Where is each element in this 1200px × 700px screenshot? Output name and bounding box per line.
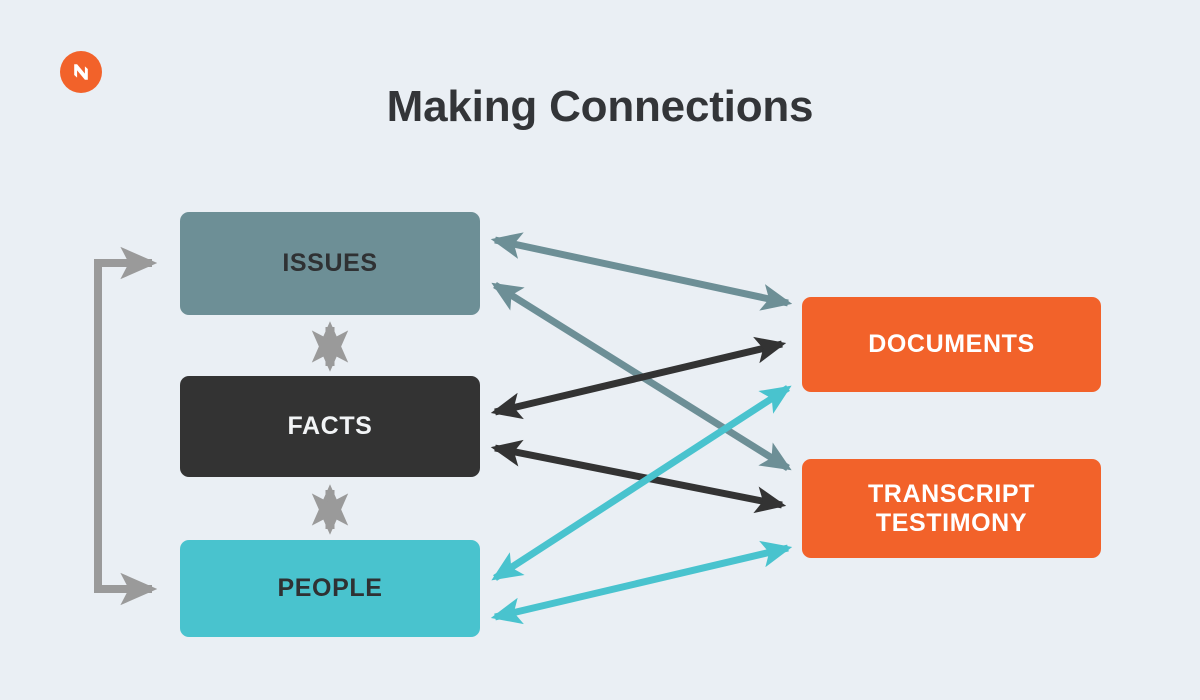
diagram-canvas: Making Connections [0,0,1200,700]
connector-facts-transcript [495,448,782,505]
node-transcript[interactable]: TRANSCRIPT TESTIMONY [802,459,1101,558]
node-people[interactable]: PEOPLE [180,540,480,637]
connector-issues-documents [495,240,788,303]
node-facts[interactable]: FACTS [180,376,480,477]
page-title: Making Connections [0,82,1200,132]
node-transcript-label: TRANSCRIPT TESTIMONY [868,480,1035,538]
node-transcript-line-1: TRANSCRIPT [868,480,1035,508]
node-documents[interactable]: DOCUMENTS [802,297,1101,392]
node-transcript-line-2: TESTIMONY [876,509,1027,537]
node-issues-label: ISSUES [282,249,377,278]
connector-people-transcript [495,548,788,617]
connector-facts-documents [495,344,782,412]
node-issues[interactable]: ISSUES [180,212,480,315]
node-documents-label: DOCUMENTS [868,330,1035,359]
connector-bracket-issues-people [98,263,152,589]
connector-issues-transcript [495,285,788,468]
node-people-label: PEOPLE [277,574,382,603]
node-facts-label: FACTS [288,412,373,441]
n-monogram-icon [69,60,93,84]
connector-people-documents [495,388,788,578]
